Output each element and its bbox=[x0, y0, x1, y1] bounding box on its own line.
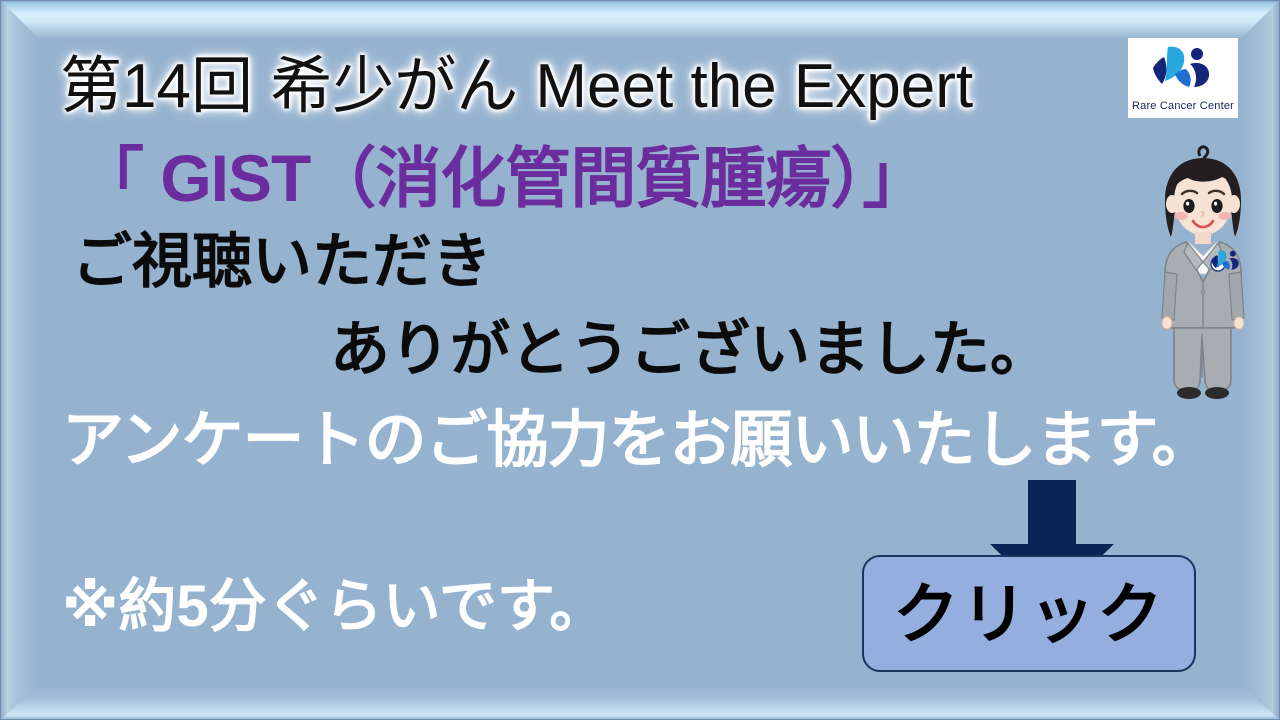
rare-cancer-center-mark-icon bbox=[1146, 43, 1220, 91]
page-subtitle: 「 GIST（消化管間質腫瘍）」 bbox=[78, 145, 927, 211]
rare-cancer-center-logo: Rare Cancer Center bbox=[1128, 38, 1238, 118]
survey-request-text: アンケートのご協力をお願いいたします。 bbox=[62, 398, 1252, 485]
logo-text: Rare Cancer Center bbox=[1128, 100, 1238, 112]
character-illustration bbox=[1122, 142, 1280, 402]
click-button[interactable]: クリック bbox=[862, 555, 1196, 672]
survey-duration-note: ※約5分ぐらいです。 bbox=[62, 578, 607, 636]
frame-bevel-left bbox=[0, 0, 40, 720]
thanks-line-1: ご視聴いただき bbox=[72, 232, 492, 292]
presentation-slide: 第14回 希少がん Meet the Expert 「 GIST（消化管間質腫瘍… bbox=[0, 0, 1280, 720]
frame-bevel-bottom bbox=[0, 684, 1280, 720]
page-title: 第14回 希少がん Meet the Expert bbox=[60, 56, 1130, 118]
frame-bevel-top bbox=[0, 0, 1280, 40]
rare-cancer-center-mark-icon-floating bbox=[1208, 245, 1244, 275]
thanks-line-2: ありがとうございました。 bbox=[330, 320, 1050, 380]
click-button-label: クリック bbox=[893, 581, 1165, 647]
